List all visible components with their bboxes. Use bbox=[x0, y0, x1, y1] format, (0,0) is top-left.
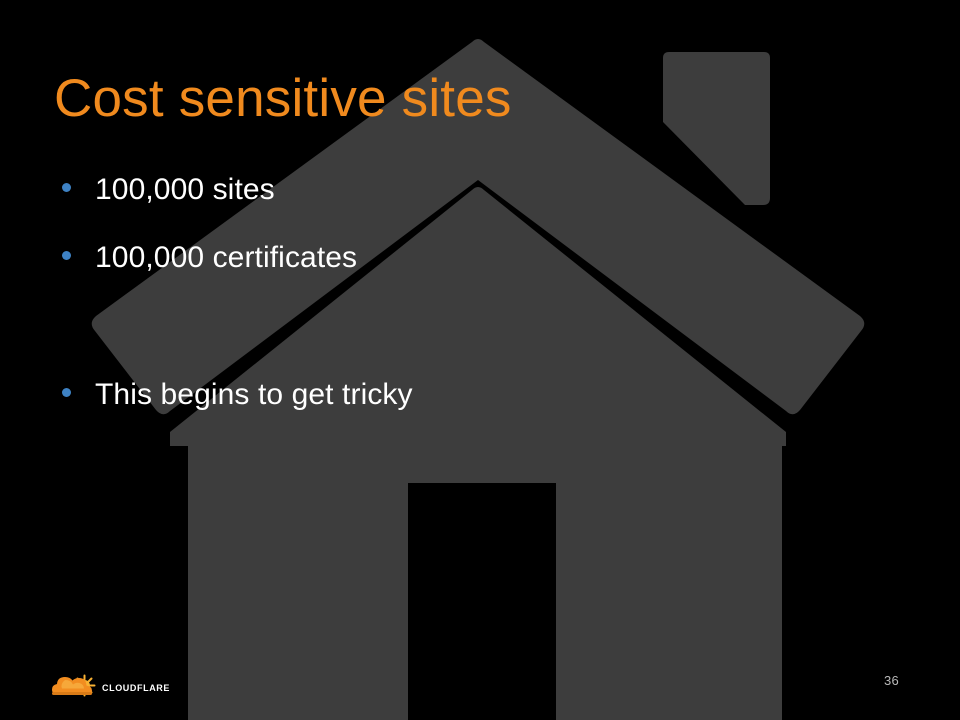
slide-canvas: Cost sensitive sites 100,000 sites 100,0… bbox=[0, 0, 960, 720]
cloudflare-cloud-sun-icon bbox=[50, 670, 98, 700]
slide-content: Cost sensitive sites 100,000 sites 100,0… bbox=[0, 0, 960, 720]
bullet-dot-icon bbox=[62, 251, 71, 260]
bullet-dot-icon bbox=[62, 388, 71, 397]
list-item-label: This begins to get tricky bbox=[95, 378, 413, 412]
list-item: 100,000 sites bbox=[62, 173, 275, 207]
page-title: Cost sensitive sites bbox=[54, 69, 512, 129]
cloudflare-wordmark: CloudFlare bbox=[102, 680, 170, 693]
page-number: 36 bbox=[884, 673, 899, 688]
cloud-icon bbox=[52, 677, 92, 695]
bullet-dot-icon bbox=[62, 183, 71, 192]
list-item-label: 100,000 sites bbox=[95, 173, 275, 207]
list-item: 100,000 certificates bbox=[62, 241, 357, 275]
list-item: This begins to get tricky bbox=[62, 378, 413, 412]
list-item-label: 100,000 certificates bbox=[95, 241, 357, 275]
cloudflare-logo: CloudFlare bbox=[50, 668, 190, 702]
